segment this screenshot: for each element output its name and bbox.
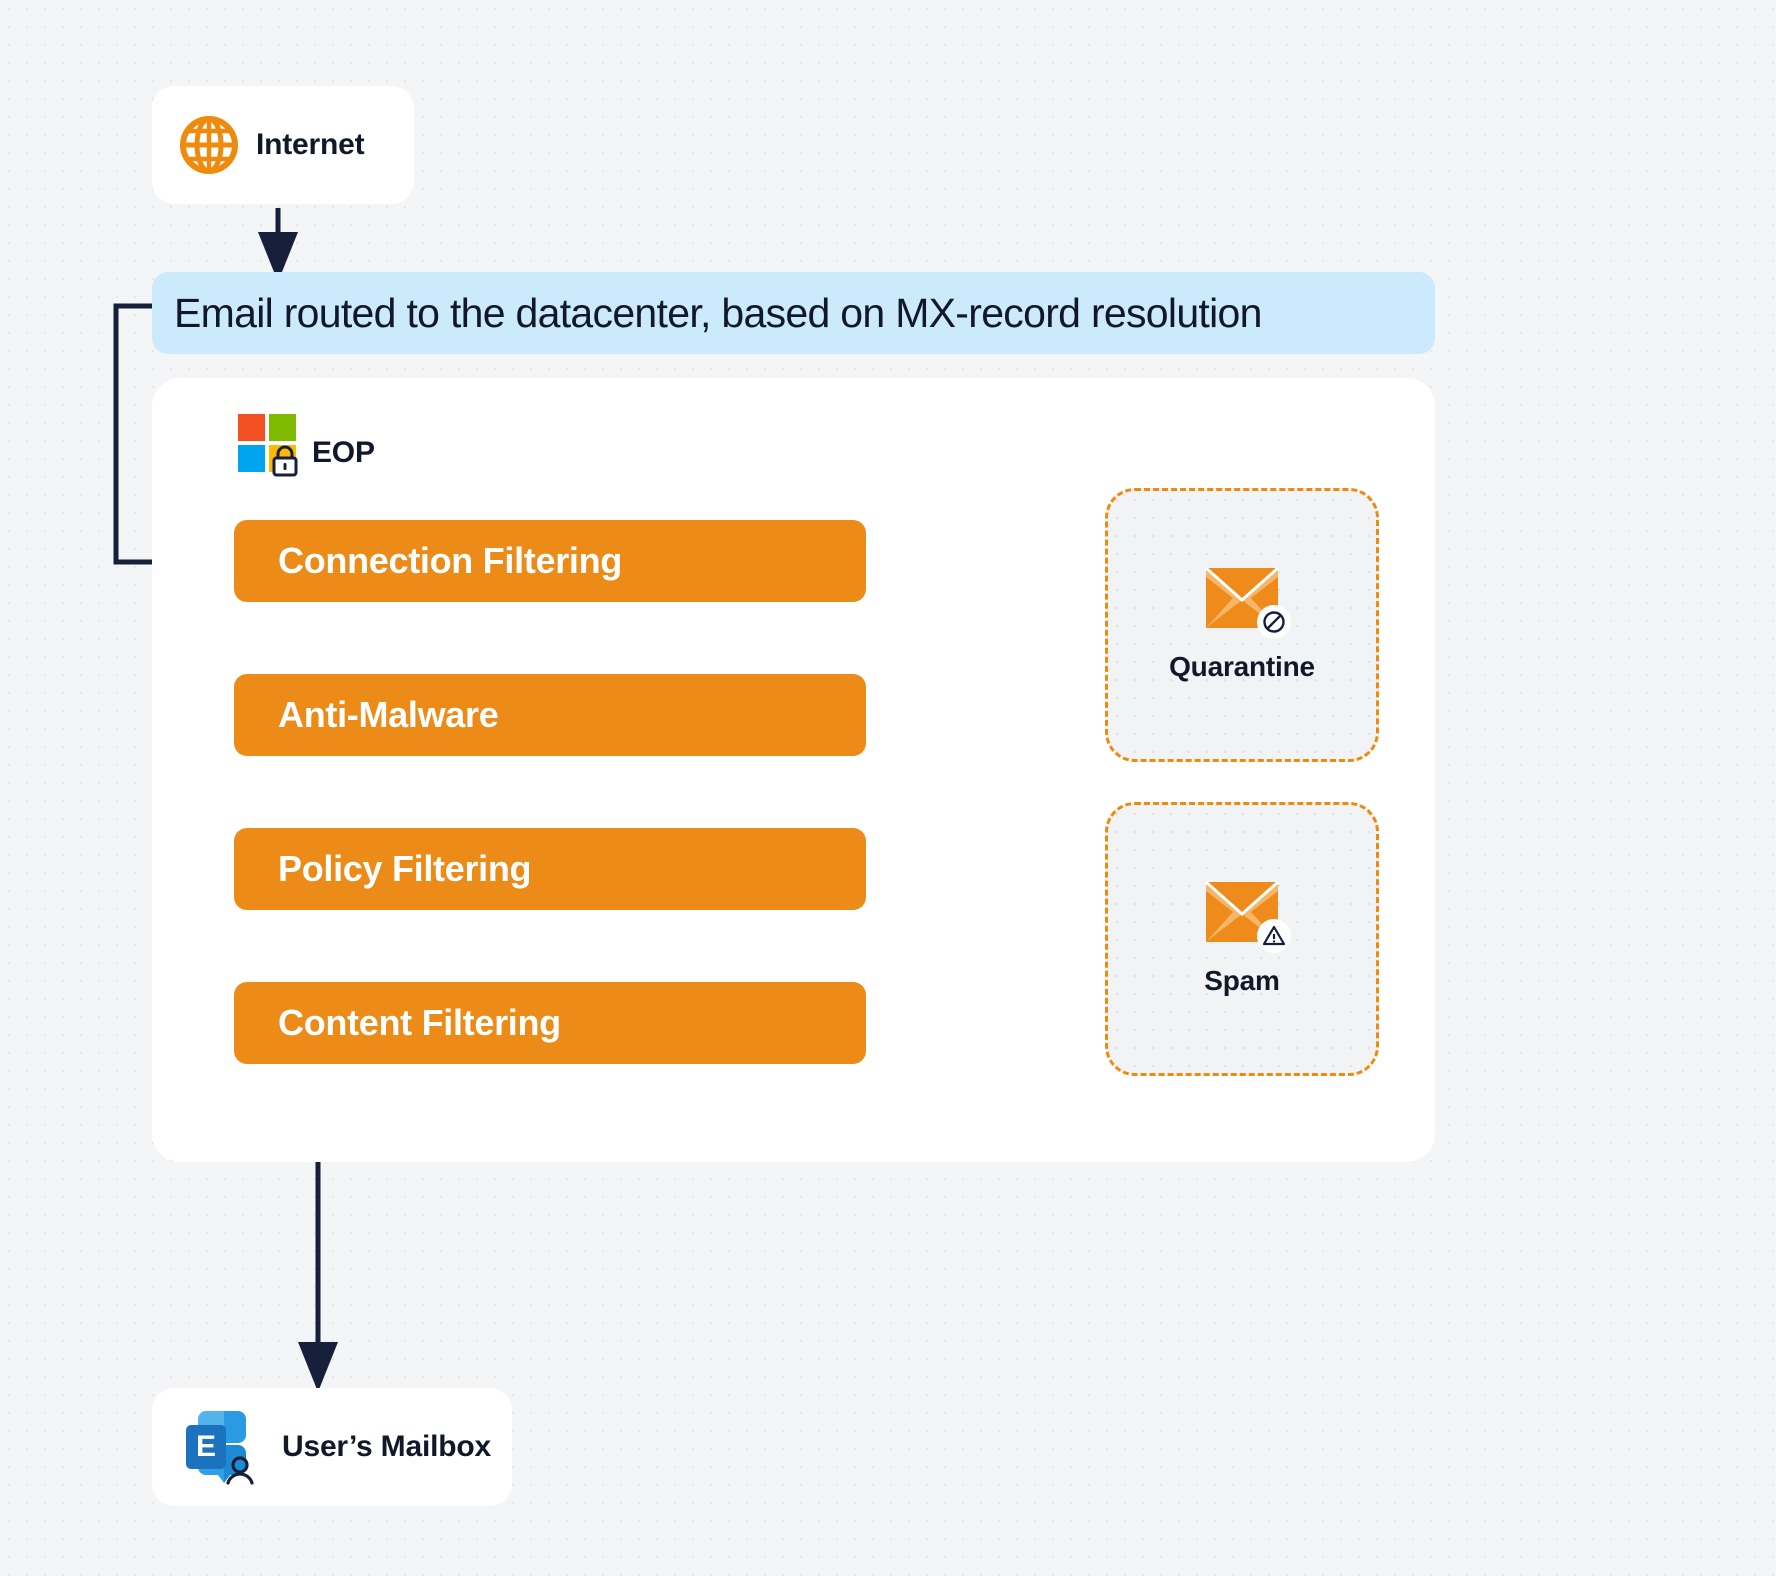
warning-icon (1257, 919, 1291, 953)
envelope-blocked-icon (1205, 567, 1279, 629)
mailbox-node: E User’s Mailbox (152, 1388, 512, 1506)
outcome-card-quarantine[interactable]: Quarantine (1105, 488, 1379, 762)
stage-anti-malware[interactable]: Anti-Malware (234, 674, 866, 756)
stage-content-filtering[interactable]: Content Filtering (234, 982, 866, 1064)
stage-connection-filtering[interactable]: Connection Filtering (234, 520, 866, 602)
internet-label: Internet (256, 128, 364, 162)
lock-icon (268, 442, 302, 478)
logo-square-green (269, 414, 296, 441)
outcome-card-spam[interactable]: Spam (1105, 802, 1379, 1076)
logo-square-red (238, 414, 265, 441)
mx-routing-label: Email routed to the datacenter, based on… (174, 290, 1262, 337)
stage-label: Policy Filtering (278, 848, 531, 890)
eop-label: EOP (312, 436, 375, 470)
envelope-warning-icon (1205, 881, 1279, 943)
mx-routing-banner: Email routed to the datacenter, based on… (152, 272, 1435, 354)
globe-icon (178, 114, 240, 176)
exchange-mailbox-icon: E (178, 1407, 264, 1487)
svg-text:E: E (196, 1430, 216, 1463)
outcome-label: Quarantine (1169, 651, 1315, 683)
block-icon (1257, 605, 1291, 639)
internet-node: Internet (152, 86, 414, 204)
stage-label: Connection Filtering (278, 540, 622, 582)
stage-label: Content Filtering (278, 1002, 561, 1044)
outcome-label: Spam (1204, 965, 1279, 997)
eop-logo-row: EOP (238, 414, 375, 474)
mailbox-label: User’s Mailbox (282, 1430, 491, 1464)
microsoft-logo (238, 414, 298, 474)
logo-square-blue (238, 445, 265, 472)
stage-policy-filtering[interactable]: Policy Filtering (234, 828, 866, 910)
stage-label: Anti-Malware (278, 694, 498, 736)
